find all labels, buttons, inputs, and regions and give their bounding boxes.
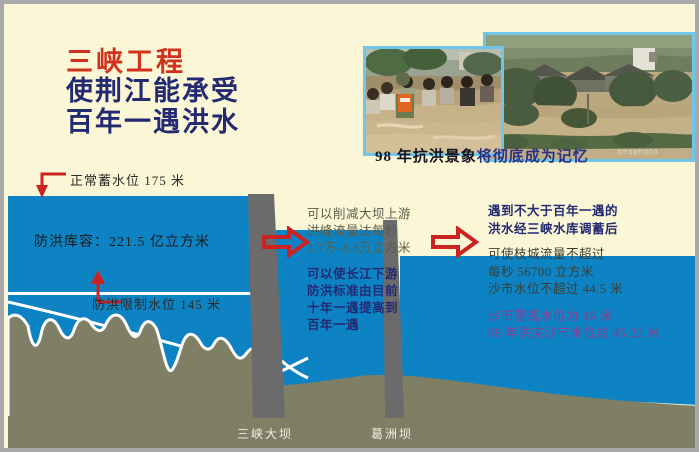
flow-arrow-one-icon xyxy=(262,226,310,258)
right-photo-frame xyxy=(483,32,695,162)
right-b-line-2: 每秒 56700 立方米 xyxy=(488,264,660,282)
middle-block-a: 可以削减大坝上游 洪峰流量达每秒 2.7万-3.3万立方米 xyxy=(307,206,411,257)
ground-base-strip xyxy=(8,416,695,448)
right-b-line-3: 沙市水位不超过 44.5 米 xyxy=(488,281,660,299)
right-text-column: 遇到不大于百年一遇的 洪水经三峡水库调蓄后 可使枝城流量不超过 每秒 56700… xyxy=(488,203,660,343)
right-block-c: 沙市警戒水位为 45 米 98 年洪灾沙市水位达 45.22 米 xyxy=(488,308,660,343)
middle-a-line-2: 洪峰流量达每秒 xyxy=(307,223,411,240)
page-subtitle: 使荆江能承受 百年一遇洪水 xyxy=(66,76,240,138)
infographic-slide: 三峡工程 使荆江能承受 百年一遇洪水 xyxy=(0,0,699,452)
right-b-line-1: 可使枝城流量不超过 xyxy=(488,246,660,264)
middle-b-line-1: 可以使长江下游 xyxy=(307,266,411,283)
middle-block-b: 可以使长江下游 防洪标准由目前 十年一遇提高到 百年一遇 xyxy=(307,266,411,334)
subtitle-line-2: 百年一遇洪水 xyxy=(66,107,240,138)
middle-b-line-3: 十年一遇提高到 xyxy=(307,300,411,317)
photo-watermark: cnsphoto xyxy=(618,147,658,156)
caption-part-blue: 将彻底成为记忆 xyxy=(477,149,589,165)
middle-text-column: 可以削减大坝上游 洪峰流量达每秒 2.7万-3.3万立方米 可以使长江下游 防洪… xyxy=(307,206,411,334)
slide-canvas: 三峡工程 使荆江能承受 百年一遇洪水 xyxy=(4,4,695,448)
flooded-village-photo xyxy=(483,32,695,162)
flow-arrow-two-icon xyxy=(431,226,479,258)
three-gorges-dam-label: 三峡大坝 xyxy=(237,425,293,442)
flood-limit-level-label: 防洪限制水位 145 米 xyxy=(92,294,221,313)
right-c-line-1: 沙市警戒水位为 45 米 xyxy=(488,308,660,326)
middle-b-line-4: 百年一遇 xyxy=(307,317,411,334)
left-photo-frame xyxy=(363,46,504,156)
right-a-line-1: 遇到不大于百年一遇的 xyxy=(488,203,660,221)
middle-b-line-2: 防洪标准由目前 xyxy=(307,283,411,300)
middle-a-line-3: 2.7万-3.3万立方米 xyxy=(307,240,411,257)
page-title: 三峡工程 xyxy=(66,40,186,79)
right-a-line-2: 洪水经三峡水库调蓄后 xyxy=(488,221,660,239)
right-block-b: 可使枝城流量不超过 每秒 56700 立方米 沙市水位不超过 44.5 米 xyxy=(488,246,660,299)
right-block-a: 遇到不大于百年一遇的 洪水经三峡水库调蓄后 xyxy=(488,203,660,238)
middle-a-line-1: 可以削减大坝上游 xyxy=(307,206,411,223)
photo-caption: 98 年抗洪景象将彻底成为记忆 xyxy=(375,145,589,166)
right-c-line-2: 98 年洪灾沙市水位达 45.22 米 xyxy=(488,325,660,343)
gezhouba-dam-label: 葛洲坝 xyxy=(371,425,413,442)
flood-rescue-photo xyxy=(363,46,504,156)
flood-capacity-label: 防洪库容：221.5 亿立方米 xyxy=(34,231,210,251)
subtitle-line-1: 使荆江能承受 xyxy=(66,76,240,107)
caption-part-black: 98 年抗洪景象 xyxy=(375,149,477,165)
normal-pool-level-label: 正常蓄水位 175 米 xyxy=(70,170,185,189)
